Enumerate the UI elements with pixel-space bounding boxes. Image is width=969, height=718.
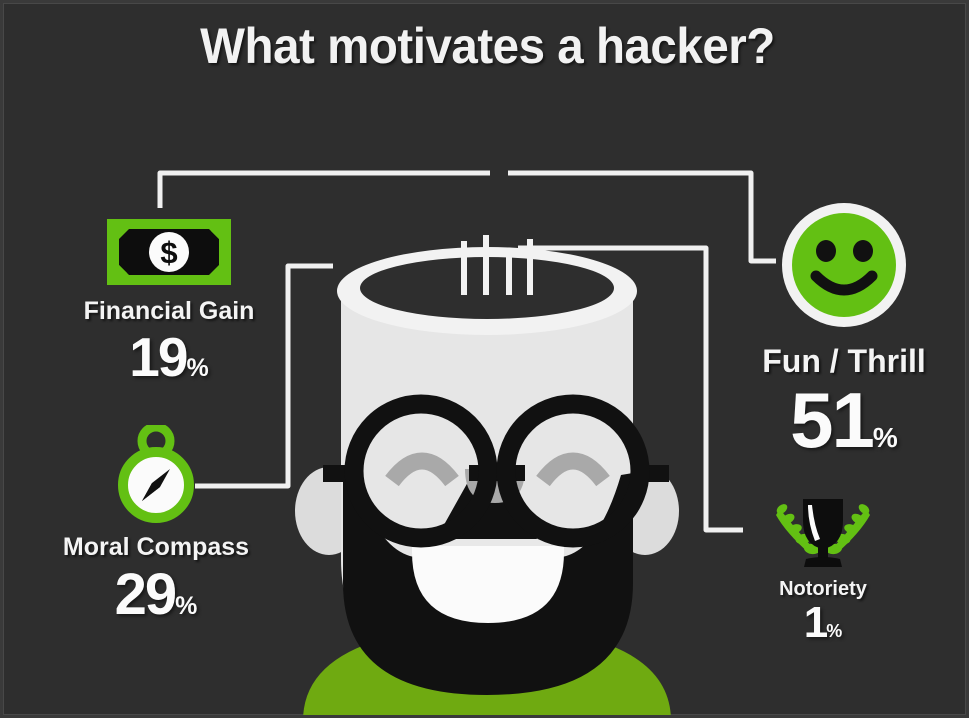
stat-notoriety[interactable]: Notoriety 1% — [703, 495, 943, 645]
stat-value-row: 51% — [719, 381, 969, 459]
stat-label: Moral Compass — [31, 535, 281, 560]
stat-percent-sign: % — [826, 621, 842, 641]
smiley-face-icon — [778, 199, 910, 331]
stat-value: 29 — [115, 562, 176, 627]
stat-fun-thrill[interactable]: Fun / Thrill 51% — [719, 199, 969, 459]
infographic-canvas: What motivates a hacker? — [0, 0, 969, 718]
stat-percent-sign: % — [175, 592, 197, 620]
compass-icon — [112, 425, 200, 523]
stat-label: Fun / Thrill — [719, 345, 969, 377]
stat-label: Notoriety — [703, 579, 943, 599]
stat-financial-gain[interactable]: $ Financial Gain 19% — [49, 219, 289, 385]
stat-percent-sign: % — [186, 354, 208, 382]
stat-value-row: 19% — [49, 330, 289, 385]
trophy-laurel-icon — [770, 495, 876, 571]
stat-value-row: 1% — [703, 601, 943, 645]
stat-value-row: 29% — [31, 566, 281, 624]
stat-moral-compass[interactable]: Moral Compass 29% — [31, 425, 281, 624]
banknote-dollar-icon: $ — [107, 219, 231, 285]
stat-percent-sign: % — [873, 422, 898, 453]
stat-value: 19 — [129, 326, 186, 388]
stat-value: 1 — [804, 598, 826, 647]
svg-text:$: $ — [160, 235, 177, 270]
stat-value: 51 — [790, 376, 873, 464]
stat-label: Financial Gain — [49, 299, 289, 324]
